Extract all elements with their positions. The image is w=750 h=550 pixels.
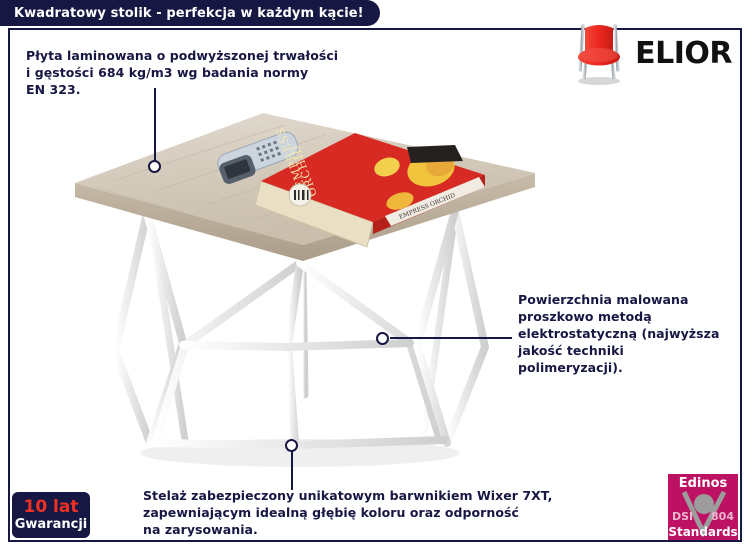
leader-line-dye (291, 450, 293, 490)
certificate-prefix: DSI (672, 510, 693, 523)
table-svg: EMPRESS ORCHID EMPRESS ORCHID (55, 95, 535, 475)
callout-dot-dye (285, 439, 298, 452)
warranty-badge: 10 lat Gwarancji (12, 492, 90, 538)
callout-text-frame-dye: Stelaż zabezpieczony unikatowym barwniki… (143, 487, 563, 538)
certificate-number: 804 (711, 510, 734, 523)
callout-dot-coating (376, 332, 389, 345)
warranty-label: Gwarancji (15, 518, 88, 531)
infographic-canvas: EMPRESS ORCHID EMPRESS ORCHID Pł (0, 0, 750, 550)
brand-logo: ELIOR (571, 20, 732, 86)
certificate-subtitle: Standards (668, 525, 738, 539)
red-chair-icon (571, 20, 627, 86)
warranty-years: 10 lat (23, 499, 78, 516)
certificate-badge: Edinos DSI 804 Standards (668, 474, 738, 540)
leader-line-coating (390, 337, 512, 339)
callout-dot-laminate (148, 160, 161, 173)
callout-text-powder-coating: Powierzchnia malowana proszkowo metodą e… (518, 291, 738, 376)
callout-text-laminate: Płyta laminowana o podwyższonej trwałośc… (26, 47, 406, 98)
product-illustration: EMPRESS ORCHID EMPRESS ORCHID (55, 95, 535, 475)
brand-name: ELIOR (635, 36, 732, 71)
banner-title: Kwadratowy stolik - perfekcja w każdym k… (14, 6, 364, 21)
leader-line-laminate (154, 88, 156, 166)
header-banner: Kwadratowy stolik - perfekcja w każdym k… (0, 0, 380, 26)
